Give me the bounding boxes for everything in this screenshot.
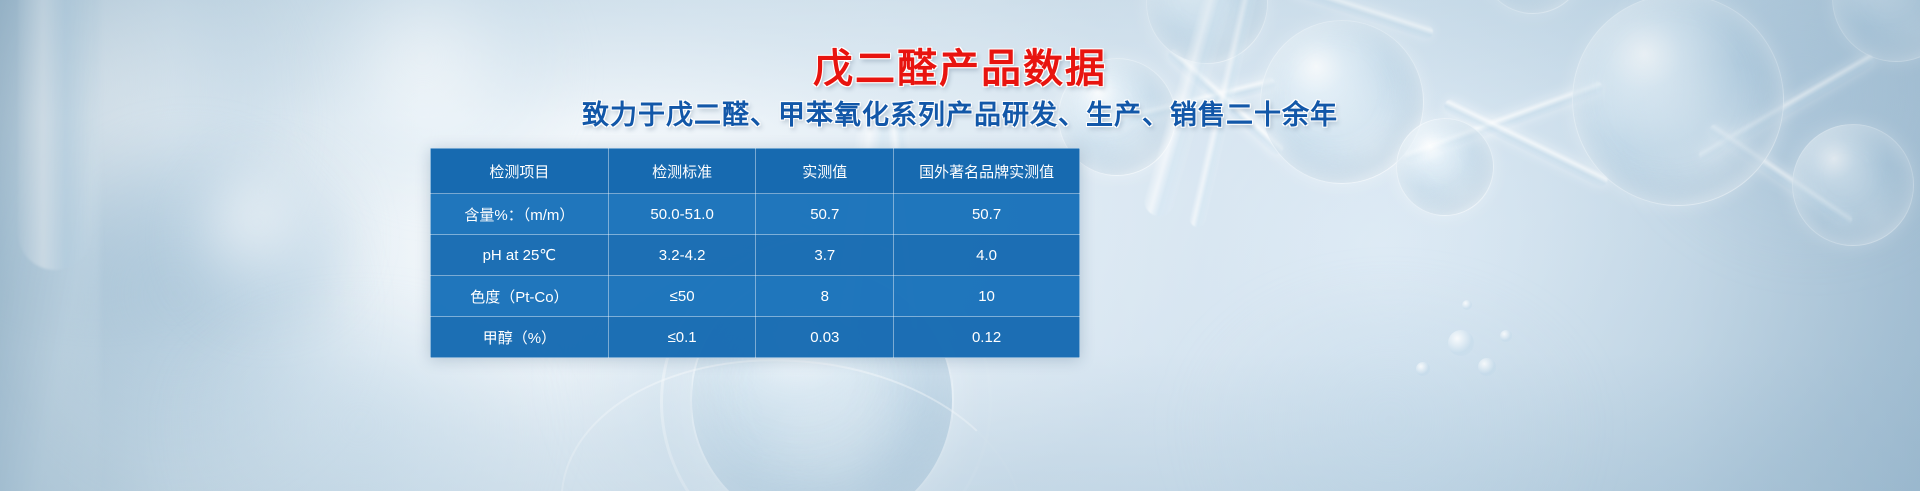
column-header-standard: 检测标准 (608, 149, 756, 194)
table-row: 色度（Pt-Co） ≤50 8 10 (431, 276, 1080, 317)
cell-foreign: 50.7 (894, 194, 1080, 235)
cell-foreign: 10 (894, 276, 1080, 317)
spec-table-container: 检测项目 检测标准 实测值 国外著名品牌实测值 含量%：（m/m） 50.0-5… (430, 148, 1080, 358)
table-row: 含量%：（m/m） 50.0-51.0 50.7 50.7 (431, 194, 1080, 235)
column-header-foreign: 国外著名品牌实测值 (894, 149, 1080, 194)
cell-standard: ≤0.1 (608, 317, 756, 358)
page-subtitle: 致力于戊二醛、甲苯氧化系列产品研发、生产、销售二十余年 (0, 100, 1920, 131)
cell-measured: 50.7 (756, 194, 894, 235)
cell-item: 色度（Pt-Co） (431, 276, 609, 317)
cell-standard: 50.0-51.0 (608, 194, 756, 235)
banner-image: 戊二醛产品数据 致力于戊二醛、甲苯氧化系列产品研发、生产、销售二十余年 检测项目… (0, 0, 1920, 491)
page-title: 戊二醛产品数据 (0, 48, 1920, 91)
spec-table: 检测项目 检测标准 实测值 国外著名品牌实测值 含量%：（m/m） 50.0-5… (430, 148, 1080, 358)
column-header-item: 检测项目 (431, 149, 609, 194)
cell-standard: ≤50 (608, 276, 756, 317)
cell-item: 甲醇（%） (431, 317, 609, 358)
table-header-row: 检测项目 检测标准 实测值 国外著名品牌实测值 (431, 149, 1080, 194)
cell-foreign: 0.12 (894, 317, 1080, 358)
cell-item: 含量%：（m/m） (431, 194, 609, 235)
cell-measured: 8 (756, 276, 894, 317)
column-header-measured: 实测值 (756, 149, 894, 194)
cell-foreign: 4.0 (894, 235, 1080, 276)
spec-table-body: 含量%：（m/m） 50.0-51.0 50.7 50.7 pH at 25℃ … (431, 194, 1080, 358)
table-row: 甲醇（%） ≤0.1 0.03 0.12 (431, 317, 1080, 358)
cell-measured: 0.03 (756, 317, 894, 358)
spec-table-head: 检测项目 检测标准 实测值 国外著名品牌实测值 (431, 149, 1080, 194)
banner-headings: 戊二醛产品数据 致力于戊二醛、甲苯氧化系列产品研发、生产、销售二十余年 (0, 48, 1920, 131)
cell-item: pH at 25℃ (431, 235, 609, 276)
cell-standard: 3.2-4.2 (608, 235, 756, 276)
table-row: pH at 25℃ 3.2-4.2 3.7 4.0 (431, 235, 1080, 276)
cell-measured: 3.7 (756, 235, 894, 276)
